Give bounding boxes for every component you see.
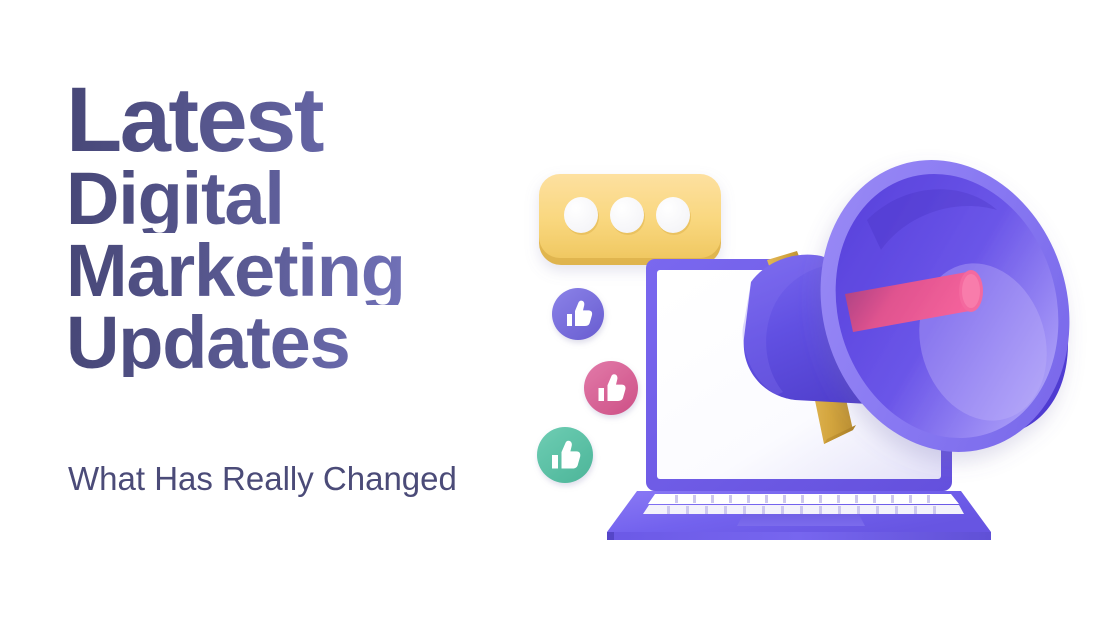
headline-line-2: Digital: [66, 165, 586, 233]
poster-canvas: Latest Digital Marketing Updates What Ha…: [0, 0, 1120, 630]
subtitle: What Has Really Changed: [68, 460, 457, 498]
chat-bubble-dots: [564, 197, 691, 235]
headline-line-3: Marketing: [66, 237, 586, 305]
reaction-thumbs-up-pink[interactable]: [584, 361, 638, 415]
megaphone-laptop-social-illustration: [515, 70, 1115, 540]
headline: Latest Digital Marketing Updates: [66, 78, 586, 377]
headline-line-4: Updates: [66, 309, 586, 377]
reaction-thumbs-up-purple[interactable]: [552, 288, 604, 340]
laptop-base: [607, 491, 991, 540]
reaction-thumbs-up-teal[interactable]: [537, 427, 593, 483]
laptop-keyboard: [643, 494, 964, 514]
chat-bubble: [539, 174, 721, 265]
headline-line-1: Latest: [66, 78, 586, 163]
